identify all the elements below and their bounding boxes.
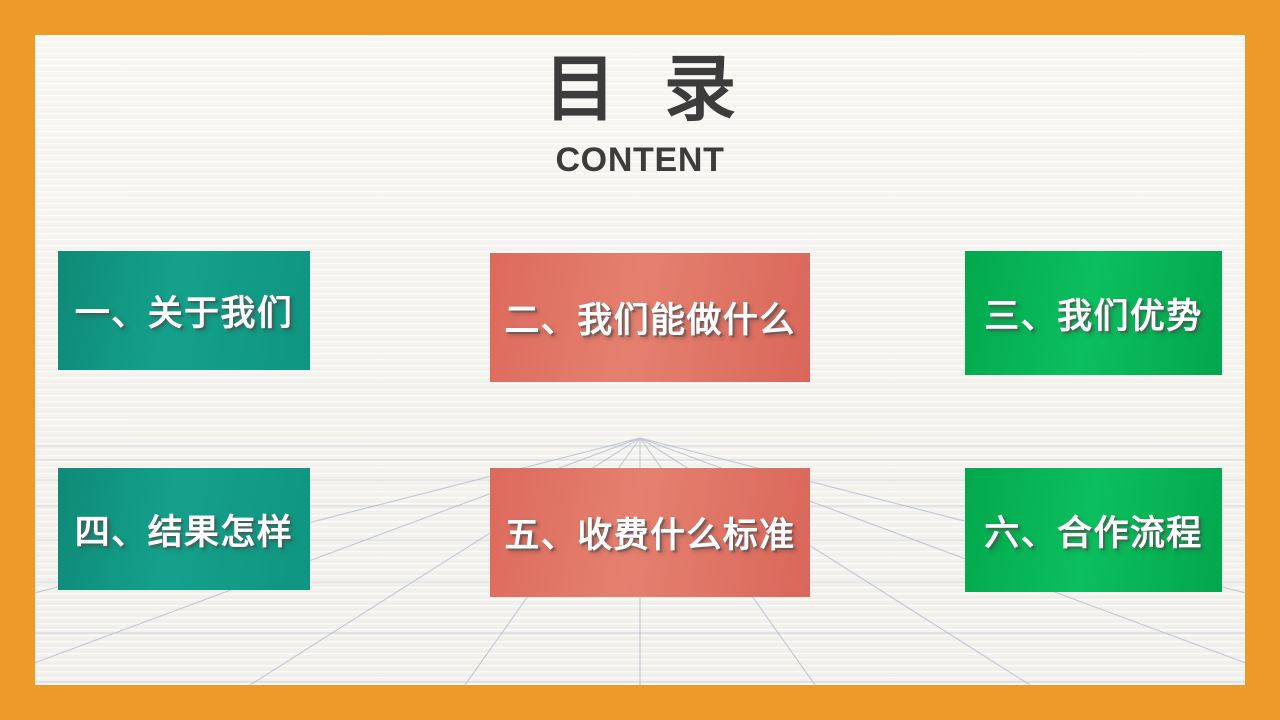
toc-item-label: 五、收费什么标准	[490, 507, 810, 558]
toc-item-label: 三、我们优势	[965, 288, 1222, 339]
toc-item-6[interactable]: 六、合作流程	[965, 468, 1222, 592]
slide: 目 录 CONTENT 一、关于我们 二、我们能做什么 三、我们优势 四、结果怎…	[0, 0, 1280, 720]
toc-item-2[interactable]: 二、我们能做什么	[490, 253, 810, 382]
toc-item-4[interactable]: 四、结果怎样	[58, 468, 310, 590]
toc-item-label: 二、我们能做什么	[490, 292, 810, 343]
page-title: 目 录	[35, 53, 1245, 125]
toc-item-label: 六、合作流程	[965, 505, 1222, 556]
toc-item-3[interactable]: 三、我们优势	[965, 251, 1222, 375]
toc-item-label: 四、结果怎样	[58, 504, 310, 555]
page-subtitle: CONTENT	[35, 141, 1245, 180]
toc-item-5[interactable]: 五、收费什么标准	[490, 468, 810, 597]
toc-item-label: 一、关于我们	[58, 285, 310, 336]
slide-canvas: 目 录 CONTENT 一、关于我们 二、我们能做什么 三、我们优势 四、结果怎…	[35, 35, 1245, 685]
toc-item-1[interactable]: 一、关于我们	[58, 251, 310, 370]
title-block: 目 录 CONTENT	[35, 53, 1245, 180]
